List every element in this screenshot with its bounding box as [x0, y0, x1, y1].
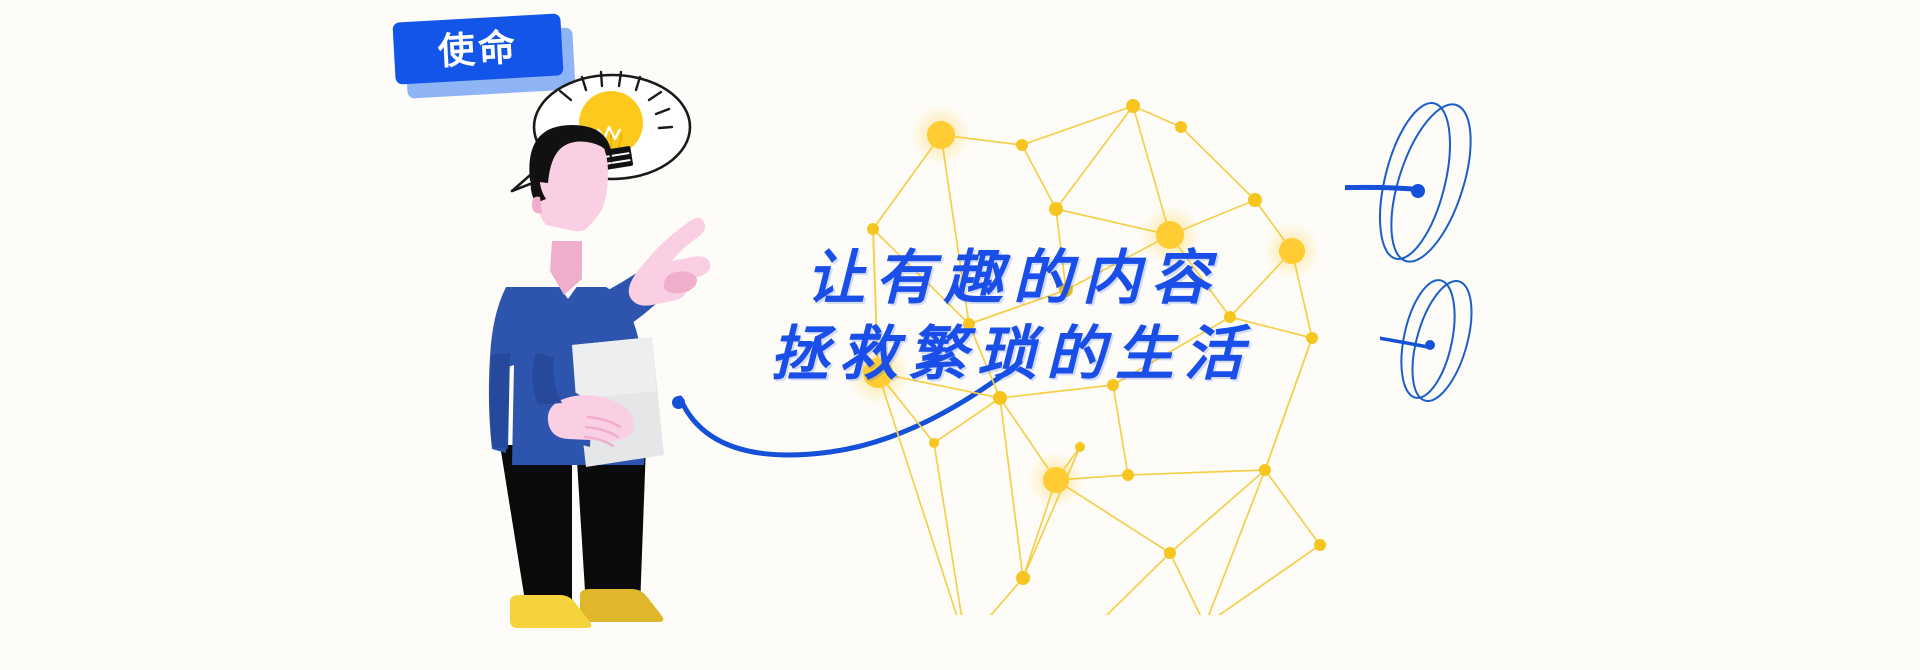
shoe-back	[580, 589, 663, 622]
pointing-hand	[629, 218, 711, 306]
shoe-front	[510, 595, 591, 628]
trouser-left	[500, 445, 572, 607]
trouser-right	[576, 445, 646, 607]
neck	[550, 241, 582, 295]
atom-orbital-icon-lower	[1380, 275, 1530, 420]
curve-end-dot	[672, 396, 685, 409]
atom-orbital-icon-upper	[1345, 95, 1525, 270]
banner-canvas: 使命	[0, 0, 1920, 670]
shirt-shadow	[490, 353, 510, 449]
